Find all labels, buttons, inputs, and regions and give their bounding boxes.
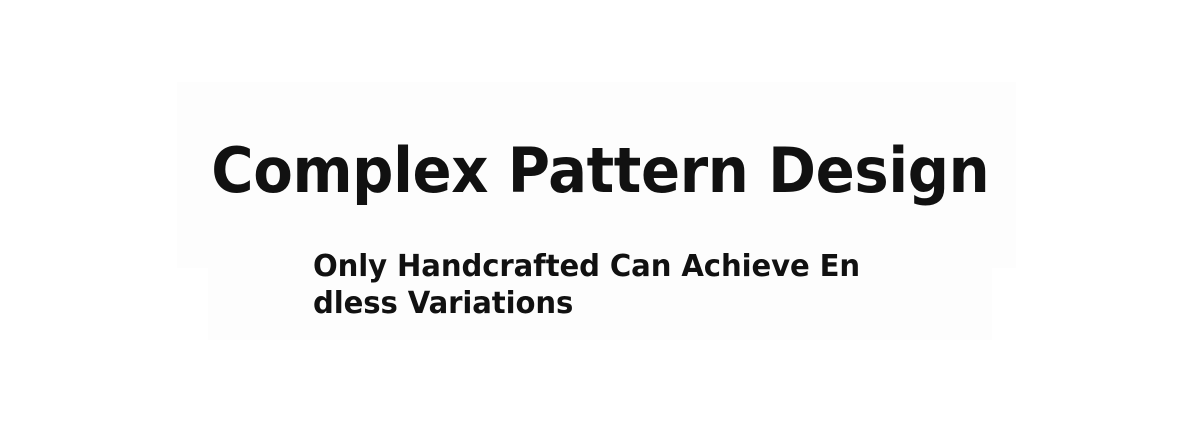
page-title: Complex Pattern Design xyxy=(211,140,989,202)
page-subtitle: Only Handcrafted Can Achieve Endless Var… xyxy=(313,249,862,322)
hero-slide: Complex Pattern Design Only Handcrafted … xyxy=(0,0,1200,439)
subtitle-block: Only Handcrafted Can Achieve Endless Var… xyxy=(313,249,879,322)
title-block: Complex Pattern Design xyxy=(0,140,1200,202)
